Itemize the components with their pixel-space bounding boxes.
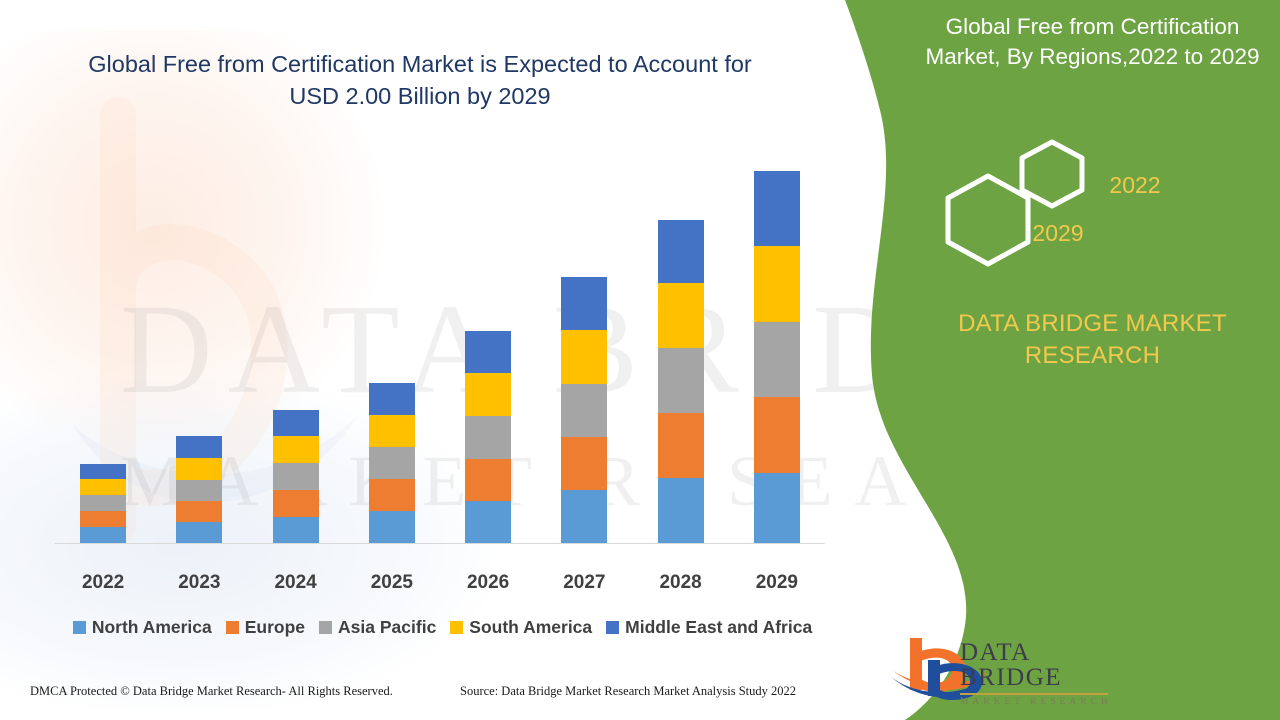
bar-segment <box>465 373 511 416</box>
bar-segment <box>176 480 222 501</box>
x-axis-line <box>55 543 825 544</box>
bar-column <box>248 150 344 543</box>
bar-segment <box>176 458 222 480</box>
legend-item[interactable]: South America <box>450 617 592 638</box>
legend-item[interactable]: North America <box>73 617 212 638</box>
x-axis-tick-label: 2028 <box>633 572 729 594</box>
chart-legend: North AmericaEuropeAsia PacificSouth Ame… <box>55 617 830 638</box>
copyright-text: DMCA Protected © Data Bridge Market Rese… <box>30 684 393 699</box>
bar-segment <box>754 473 800 543</box>
chart-plot-area <box>55 150 825 552</box>
bar-segment <box>465 331 511 373</box>
stacked-bar[interactable] <box>369 383 415 543</box>
bar-segment <box>80 464 126 479</box>
stacked-bar[interactable] <box>754 171 800 543</box>
legend-label: Europe <box>245 617 305 638</box>
x-axis-tick-label: 2022 <box>55 572 151 594</box>
bar-segment <box>273 410 319 436</box>
panel-content: Global Free from Certification Market, B… <box>900 0 1280 720</box>
bar-segment <box>754 171 800 246</box>
bar-segment <box>658 413 704 478</box>
x-axis-labels: 20222023202420252026202720282029 <box>55 572 825 594</box>
bar-segment <box>273 463 319 490</box>
stacked-bar[interactable] <box>176 436 222 543</box>
hexagon-2022-outline <box>1022 142 1082 206</box>
source-text: Source: Data Bridge Market Research Mark… <box>460 684 796 699</box>
stacked-bar[interactable] <box>658 220 704 543</box>
x-axis-tick-label: 2027 <box>536 572 632 594</box>
bar-column <box>151 150 247 543</box>
legend-swatch <box>73 621 86 634</box>
bar-series-container <box>55 150 825 543</box>
x-axis-tick-label: 2026 <box>440 572 536 594</box>
hexagon-label-2029: 2029 <box>1008 220 1108 247</box>
legend-label: North America <box>92 617 212 638</box>
bar-segment <box>658 348 704 413</box>
brand-name: DATA BRIDGE MARKET RESEARCH <box>910 308 1275 373</box>
bar-segment <box>369 447 415 479</box>
hexagon-label-2022: 2022 <box>1090 172 1180 199</box>
bar-segment <box>80 527 126 543</box>
bar-segment <box>658 283 704 348</box>
bar-segment <box>561 330 607 384</box>
bar-segment <box>369 479 415 511</box>
stacked-bar[interactable] <box>273 410 319 543</box>
logo-sub-text: MARKET RESEARCH <box>960 698 1120 708</box>
bar-column <box>440 150 536 543</box>
bar-segment <box>754 322 800 397</box>
legend-item[interactable]: Asia Pacific <box>319 617 436 638</box>
page-title: Global Free from Certification Market is… <box>70 48 770 113</box>
panel-title: Global Free from Certification Market, B… <box>910 12 1275 72</box>
bar-segment <box>273 436 319 463</box>
logo-main-text: DATA BRIDGE <box>960 640 1120 690</box>
x-axis-tick-label: 2025 <box>344 572 440 594</box>
bar-segment <box>176 501 222 522</box>
bar-segment <box>273 490 319 517</box>
bar-segment <box>176 436 222 458</box>
bar-segment <box>369 415 415 447</box>
x-axis-tick-label: 2023 <box>151 572 247 594</box>
x-axis-tick-label: 2029 <box>729 572 825 594</box>
bar-column <box>55 150 151 543</box>
bar-segment <box>369 511 415 543</box>
bar-segment <box>176 522 222 543</box>
bar-segment <box>465 501 511 543</box>
stacked-bar[interactable] <box>465 331 511 543</box>
bar-segment <box>80 511 126 527</box>
legend-label: South America <box>469 617 592 638</box>
x-axis-tick-label: 2024 <box>248 572 344 594</box>
legend-swatch <box>226 621 239 634</box>
stacked-bar[interactable] <box>80 464 126 543</box>
legend-swatch <box>606 621 619 634</box>
bar-segment <box>754 397 800 473</box>
legend-item[interactable]: Europe <box>226 617 305 638</box>
bar-segment <box>658 478 704 543</box>
legend-label: Middle East and Africa <box>625 617 812 638</box>
bar-segment <box>273 517 319 543</box>
bar-column <box>536 150 632 543</box>
bar-segment <box>369 383 415 415</box>
legend-swatch <box>319 621 332 634</box>
bar-segment <box>465 416 511 459</box>
legend-swatch <box>450 621 463 634</box>
legend-label: Asia Pacific <box>338 617 436 638</box>
stacked-bar-chart <box>55 150 825 560</box>
legend-item[interactable]: Middle East and Africa <box>606 617 812 638</box>
stacked-bar[interactable] <box>561 277 607 543</box>
footer: DMCA Protected © Data Bridge Market Rese… <box>0 684 845 708</box>
bar-column <box>633 150 729 543</box>
bar-segment <box>561 384 607 437</box>
bar-segment <box>754 246 800 322</box>
bar-segment <box>561 490 607 543</box>
bar-segment <box>561 277 607 330</box>
bar-segment <box>80 479 126 495</box>
bar-segment <box>658 220 704 283</box>
bar-segment <box>561 437 607 490</box>
hexagon-pair <box>900 130 1280 280</box>
bar-segment <box>465 459 511 501</box>
logo-divider <box>960 693 1108 695</box>
logo-wordmark: DATA BRIDGE MARKET RESEARCH <box>960 640 1120 708</box>
bar-column <box>729 150 825 543</box>
bar-segment <box>80 495 126 511</box>
bar-column <box>344 150 440 543</box>
